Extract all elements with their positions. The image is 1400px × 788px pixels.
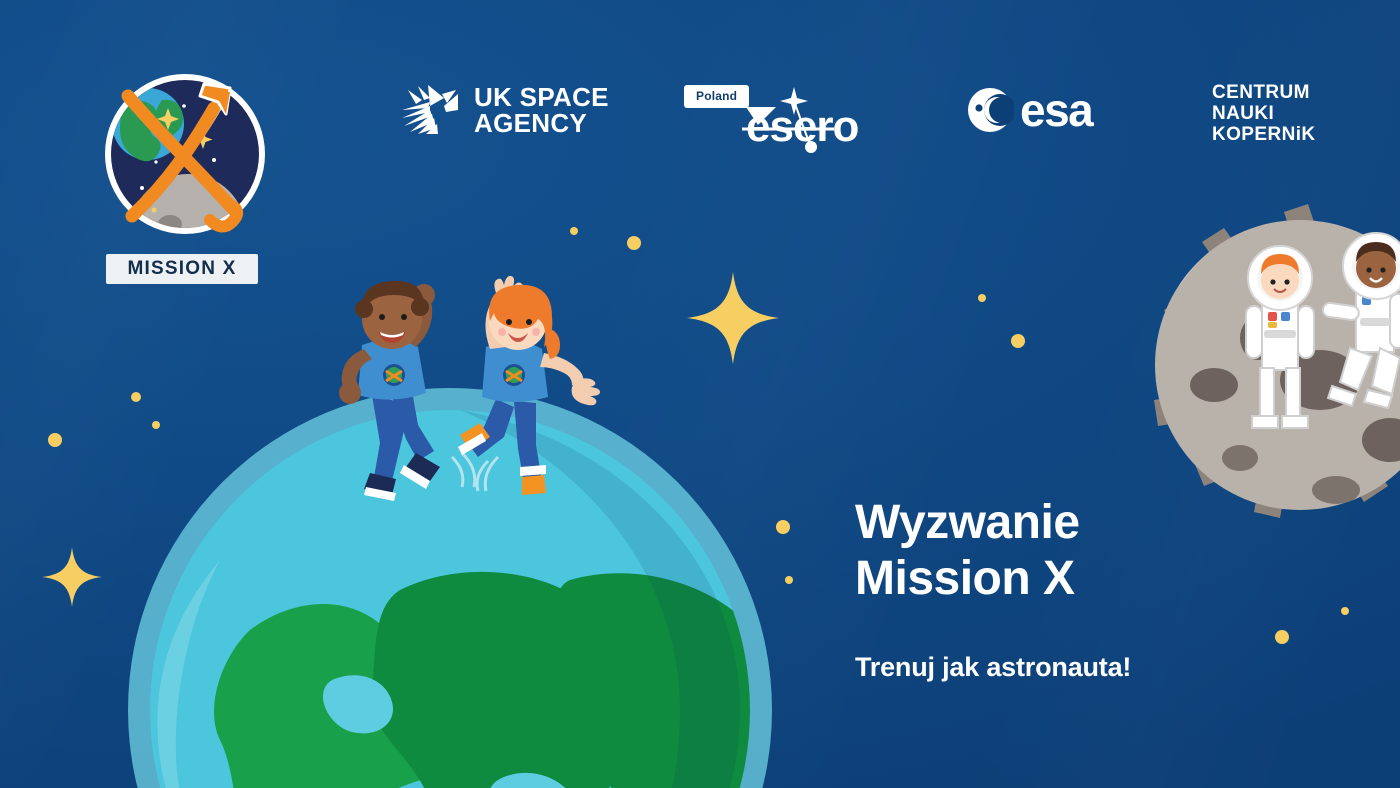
partner-logos: UK SPACE AGENCY Poland esero bbox=[0, 0, 1400, 180]
star-dot bbox=[1341, 607, 1349, 615]
esero-country-label: Poland bbox=[696, 89, 737, 103]
hero-text: Wyzwanie Mission X Trenuj jak astronauta… bbox=[855, 495, 1325, 683]
sparkle-star-icon bbox=[685, 270, 781, 371]
star-dot bbox=[978, 294, 986, 302]
mission-x-label: MISSION X bbox=[106, 254, 258, 284]
esero-country-chip: Poland bbox=[684, 85, 749, 108]
jumping-kids bbox=[300, 275, 620, 525]
esa-emblem-icon bbox=[966, 86, 1014, 134]
uk-space-agency-logo[interactable]: UK SPACE AGENCY bbox=[400, 84, 609, 136]
hero-title-line1: Wyzwanie bbox=[855, 495, 1325, 551]
mission-x-label-text: MISSION X bbox=[128, 258, 237, 280]
sparkle-star-icon bbox=[41, 546, 103, 613]
kopernik-line2: NAUKI bbox=[1212, 103, 1316, 124]
star-dot bbox=[570, 227, 578, 235]
kid-right bbox=[458, 276, 600, 495]
star-dot bbox=[1011, 334, 1025, 348]
kopernik-line3: KOPERNiK bbox=[1212, 124, 1316, 145]
esa-logo[interactable]: esa bbox=[966, 86, 1092, 134]
star-dot bbox=[48, 433, 62, 447]
uk-space-agency-icon bbox=[400, 84, 462, 136]
hero-tagline: Trenuj jak astronauta! bbox=[855, 651, 1325, 683]
star-dot bbox=[627, 236, 641, 250]
esero-poland-logo[interactable]: Poland esero bbox=[684, 85, 864, 155]
uk-space-agency-line1: UK SPACE bbox=[474, 84, 609, 110]
hero-title-line2: Mission X bbox=[855, 551, 1325, 607]
kid-left bbox=[339, 281, 440, 501]
uk-space-agency-line2: AGENCY bbox=[474, 110, 609, 136]
kopernik-line1: CENTRUM bbox=[1212, 82, 1316, 103]
esa-wordmark: esa bbox=[1020, 87, 1092, 133]
kopernik-logo[interactable]: CENTRUM NAUKI KOPERNiK bbox=[1212, 82, 1316, 145]
poster-canvas: MISSION X U bbox=[0, 0, 1400, 788]
uk-space-agency-wordmark: UK SPACE AGENCY bbox=[474, 84, 609, 136]
esero-wordmark: esero bbox=[746, 105, 858, 149]
